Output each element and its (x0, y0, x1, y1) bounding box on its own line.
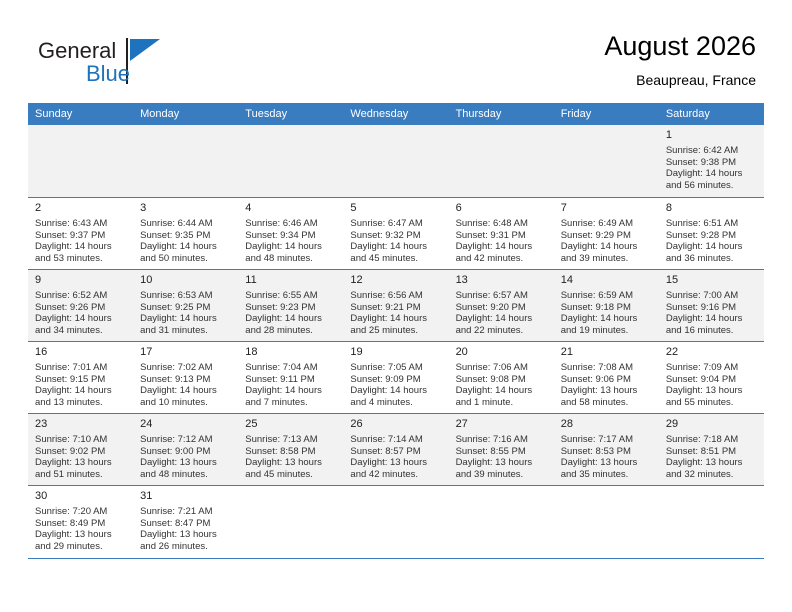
day-cell-content: 1Sunrise: 6:42 AMSunset: 9:38 PMDaylight… (659, 125, 764, 191)
day-cell-content: 23Sunrise: 7:10 AMSunset: 9:02 PMDayligh… (28, 414, 133, 480)
day-cell-19[interactable]: 19Sunrise: 7:05 AMSunset: 9:09 PMDayligh… (343, 342, 448, 414)
day-number: 7 (561, 202, 652, 215)
daylight-text-line2: and 28 minutes. (245, 325, 336, 337)
day-cell-12[interactable]: 12Sunrise: 6:56 AMSunset: 9:21 PMDayligh… (343, 270, 448, 342)
daylight-text-line2: and 45 minutes. (245, 469, 336, 481)
day-info: Sunrise: 6:48 AMSunset: 9:31 PMDaylight:… (456, 218, 547, 264)
day-info: Sunrise: 6:55 AMSunset: 9:23 PMDaylight:… (245, 290, 336, 336)
calendar-week-row: 2Sunrise: 6:43 AMSunset: 9:37 PMDaylight… (28, 198, 764, 270)
daylight-text-line2: and 45 minutes. (350, 253, 441, 265)
day-cell-16[interactable]: 16Sunrise: 7:01 AMSunset: 9:15 PMDayligh… (28, 342, 133, 414)
daylight-text-line1: Daylight: 14 hours (456, 313, 547, 325)
daylight-text-line2: and 58 minutes. (561, 397, 652, 409)
sunrise-text: Sunrise: 7:18 AM (666, 434, 757, 446)
day-cell-empty (133, 125, 238, 198)
day-cell-content: 14Sunrise: 6:59 AMSunset: 9:18 PMDayligh… (554, 270, 659, 336)
day-cell-content: 17Sunrise: 7:02 AMSunset: 9:13 PMDayligh… (133, 342, 238, 408)
daylight-text-line2: and 34 minutes. (35, 325, 126, 337)
day-cell-content: 9Sunrise: 6:52 AMSunset: 9:26 PMDaylight… (28, 270, 133, 336)
sunset-text: Sunset: 9:26 PM (35, 302, 126, 314)
day-number: 19 (350, 346, 441, 359)
day-cell-empty (554, 125, 659, 198)
day-cell-content: 28Sunrise: 7:17 AMSunset: 8:53 PMDayligh… (554, 414, 659, 480)
day-number: 10 (140, 274, 231, 287)
calendar-page: General Blue August 2026 Beaupreau, Fran… (0, 0, 792, 612)
day-cell-content: 10Sunrise: 6:53 AMSunset: 9:25 PMDayligh… (133, 270, 238, 336)
day-info: Sunrise: 6:52 AMSunset: 9:26 PMDaylight:… (35, 290, 126, 336)
daylight-text-line1: Daylight: 14 hours (456, 241, 547, 253)
daylight-text-line1: Daylight: 14 hours (666, 313, 757, 325)
daylight-text-line1: Daylight: 14 hours (350, 385, 441, 397)
sunrise-text: Sunrise: 6:53 AM (140, 290, 231, 302)
sunrise-text: Sunrise: 6:46 AM (245, 218, 336, 230)
sunrise-sunset-calendar: Sunday Monday Tuesday Wednesday Thursday… (28, 103, 764, 559)
day-cell-content: 24Sunrise: 7:12 AMSunset: 9:00 PMDayligh… (133, 414, 238, 480)
sunset-text: Sunset: 9:25 PM (140, 302, 231, 314)
empty-day-placeholder (554, 125, 659, 197)
calendar-week-row: 1Sunrise: 6:42 AMSunset: 9:38 PMDaylight… (28, 125, 764, 198)
sunset-text: Sunset: 9:13 PM (140, 374, 231, 386)
day-cell-content: 26Sunrise: 7:14 AMSunset: 8:57 PMDayligh… (343, 414, 448, 480)
empty-day-placeholder (28, 125, 133, 197)
day-cell-17[interactable]: 17Sunrise: 7:02 AMSunset: 9:13 PMDayligh… (133, 342, 238, 414)
day-cell-13[interactable]: 13Sunrise: 6:57 AMSunset: 9:20 PMDayligh… (449, 270, 554, 342)
weekday-header-row: Sunday Monday Tuesday Wednesday Thursday… (28, 103, 764, 125)
sunset-text: Sunset: 9:09 PM (350, 374, 441, 386)
day-info: Sunrise: 6:59 AMSunset: 9:18 PMDaylight:… (561, 290, 652, 336)
day-cell-20[interactable]: 20Sunrise: 7:06 AMSunset: 9:08 PMDayligh… (449, 342, 554, 414)
daylight-text-line1: Daylight: 14 hours (456, 385, 547, 397)
daylight-text-line1: Daylight: 13 hours (456, 457, 547, 469)
sunset-text: Sunset: 9:16 PM (666, 302, 757, 314)
day-number: 9 (35, 274, 126, 287)
day-cell-21[interactable]: 21Sunrise: 7:08 AMSunset: 9:06 PMDayligh… (554, 342, 659, 414)
day-cell-content: 7Sunrise: 6:49 AMSunset: 9:29 PMDaylight… (554, 198, 659, 264)
day-number: 24 (140, 418, 231, 431)
day-cell-empty (659, 486, 764, 559)
empty-day-placeholder (343, 486, 448, 558)
day-cell-6[interactable]: 6Sunrise: 6:48 AMSunset: 9:31 PMDaylight… (449, 198, 554, 270)
daylight-text-line2: and 53 minutes. (35, 253, 126, 265)
sunrise-text: Sunrise: 6:56 AM (350, 290, 441, 302)
daylight-text-line2: and 32 minutes. (666, 469, 757, 481)
sunrise-text: Sunrise: 7:01 AM (35, 362, 126, 374)
empty-day-placeholder (449, 125, 554, 197)
daylight-text-line2: and 22 minutes. (456, 325, 547, 337)
day-info: Sunrise: 6:42 AMSunset: 9:38 PMDaylight:… (666, 145, 757, 191)
day-number: 26 (350, 418, 441, 431)
day-cell-26[interactable]: 26Sunrise: 7:14 AMSunset: 8:57 PMDayligh… (343, 414, 448, 486)
day-cell-29[interactable]: 29Sunrise: 7:18 AMSunset: 8:51 PMDayligh… (659, 414, 764, 486)
day-info: Sunrise: 7:16 AMSunset: 8:55 PMDaylight:… (456, 434, 547, 480)
daylight-text-line1: Daylight: 13 hours (561, 457, 652, 469)
logo-word-blue: Blue (86, 61, 130, 87)
daylight-text-line1: Daylight: 13 hours (666, 457, 757, 469)
daylight-text-line2: and 51 minutes. (35, 469, 126, 481)
day-number: 1 (666, 129, 757, 142)
day-cell-10[interactable]: 10Sunrise: 6:53 AMSunset: 9:25 PMDayligh… (133, 270, 238, 342)
daylight-text-line1: Daylight: 13 hours (245, 457, 336, 469)
day-cell-content: 31Sunrise: 7:21 AMSunset: 8:47 PMDayligh… (133, 486, 238, 552)
daylight-text-line1: Daylight: 13 hours (350, 457, 441, 469)
weekday-header-sunday: Sunday (28, 103, 133, 125)
day-number: 21 (561, 346, 652, 359)
day-info: Sunrise: 6:46 AMSunset: 9:34 PMDaylight:… (245, 218, 336, 264)
daylight-text-line1: Daylight: 14 hours (35, 385, 126, 397)
empty-day-placeholder (238, 125, 343, 197)
daylight-text-line1: Daylight: 14 hours (245, 385, 336, 397)
day-info: Sunrise: 7:06 AMSunset: 9:08 PMDaylight:… (456, 362, 547, 408)
day-cell-content: 2Sunrise: 6:43 AMSunset: 9:37 PMDaylight… (28, 198, 133, 264)
day-cell-content: 15Sunrise: 7:00 AMSunset: 9:16 PMDayligh… (659, 270, 764, 336)
sunrise-text: Sunrise: 7:20 AM (35, 506, 126, 518)
sunrise-text: Sunrise: 7:09 AM (666, 362, 757, 374)
sunset-text: Sunset: 9:15 PM (35, 374, 126, 386)
day-number: 11 (245, 274, 336, 287)
empty-day-placeholder (449, 486, 554, 558)
day-cell-content: 25Sunrise: 7:13 AMSunset: 8:58 PMDayligh… (238, 414, 343, 480)
sunset-text: Sunset: 8:51 PM (666, 446, 757, 458)
daylight-text-line1: Daylight: 14 hours (561, 313, 652, 325)
sunset-text: Sunset: 8:58 PM (245, 446, 336, 458)
day-cell-empty (238, 486, 343, 559)
daylight-text-line2: and 4 minutes. (350, 397, 441, 409)
daylight-text-line1: Daylight: 13 hours (35, 457, 126, 469)
daylight-text-line2: and 1 minute. (456, 397, 547, 409)
sunrise-text: Sunrise: 7:17 AM (561, 434, 652, 446)
day-info: Sunrise: 7:04 AMSunset: 9:11 PMDaylight:… (245, 362, 336, 408)
calendar-week-row: 16Sunrise: 7:01 AMSunset: 9:15 PMDayligh… (28, 342, 764, 414)
day-cell-1[interactable]: 1Sunrise: 6:42 AMSunset: 9:38 PMDaylight… (659, 125, 764, 198)
sunset-text: Sunset: 8:49 PM (35, 518, 126, 530)
day-info: Sunrise: 7:21 AMSunset: 8:47 PMDaylight:… (140, 506, 231, 552)
sunset-text: Sunset: 8:57 PM (350, 446, 441, 458)
empty-day-placeholder (554, 486, 659, 558)
daylight-text-line2: and 48 minutes. (245, 253, 336, 265)
day-info: Sunrise: 7:05 AMSunset: 9:09 PMDaylight:… (350, 362, 441, 408)
day-number: 31 (140, 490, 231, 503)
day-number: 14 (561, 274, 652, 287)
day-number: 12 (350, 274, 441, 287)
sunset-text: Sunset: 8:55 PM (456, 446, 547, 458)
day-info: Sunrise: 7:09 AMSunset: 9:04 PMDaylight:… (666, 362, 757, 408)
sunrise-text: Sunrise: 7:08 AM (561, 362, 652, 374)
sunrise-text: Sunrise: 7:04 AM (245, 362, 336, 374)
empty-day-placeholder (659, 486, 764, 558)
day-number: 15 (666, 274, 757, 287)
day-number: 5 (350, 202, 441, 215)
day-cell-content: 18Sunrise: 7:04 AMSunset: 9:11 PMDayligh… (238, 342, 343, 408)
daylight-text-line2: and 36 minutes. (666, 253, 757, 265)
weekday-header-tuesday: Tuesday (238, 103, 343, 125)
day-number: 8 (666, 202, 757, 215)
daylight-text-line1: Daylight: 14 hours (35, 313, 126, 325)
day-cell-9[interactable]: 9Sunrise: 6:52 AMSunset: 9:26 PMDaylight… (28, 270, 133, 342)
sunrise-text: Sunrise: 7:05 AM (350, 362, 441, 374)
day-cell-18[interactable]: 18Sunrise: 7:04 AMSunset: 9:11 PMDayligh… (238, 342, 343, 414)
sunrise-text: Sunrise: 7:00 AM (666, 290, 757, 302)
day-cell-content: 21Sunrise: 7:08 AMSunset: 9:06 PMDayligh… (554, 342, 659, 408)
weekday-header-saturday: Saturday (659, 103, 764, 125)
sunset-text: Sunset: 9:35 PM (140, 230, 231, 242)
sunrise-text: Sunrise: 6:59 AM (561, 290, 652, 302)
day-cell-content: 4Sunrise: 6:46 AMSunset: 9:34 PMDaylight… (238, 198, 343, 264)
sunrise-text: Sunrise: 7:10 AM (35, 434, 126, 446)
day-info: Sunrise: 7:20 AMSunset: 8:49 PMDaylight:… (35, 506, 126, 552)
day-cell-content: 19Sunrise: 7:05 AMSunset: 9:09 PMDayligh… (343, 342, 448, 408)
daylight-text-line2: and 56 minutes. (666, 180, 757, 192)
sunset-text: Sunset: 9:37 PM (35, 230, 126, 242)
daylight-text-line2: and 7 minutes. (245, 397, 336, 409)
sunset-text: Sunset: 8:47 PM (140, 518, 231, 530)
day-cell-content: 8Sunrise: 6:51 AMSunset: 9:28 PMDaylight… (659, 198, 764, 264)
daylight-text-line2: and 13 minutes. (35, 397, 126, 409)
daylight-text-line2: and 10 minutes. (140, 397, 231, 409)
day-info: Sunrise: 7:10 AMSunset: 9:02 PMDaylight:… (35, 434, 126, 480)
weekday-header-thursday: Thursday (449, 103, 554, 125)
day-number: 17 (140, 346, 231, 359)
sunrise-text: Sunrise: 6:51 AM (666, 218, 757, 230)
day-number: 28 (561, 418, 652, 431)
day-cell-empty (343, 125, 448, 198)
daylight-text-line1: Daylight: 13 hours (666, 385, 757, 397)
sunset-text: Sunset: 9:23 PM (245, 302, 336, 314)
sunrise-text: Sunrise: 7:21 AM (140, 506, 231, 518)
day-info: Sunrise: 6:51 AMSunset: 9:28 PMDaylight:… (666, 218, 757, 264)
day-cell-content: 30Sunrise: 7:20 AMSunset: 8:49 PMDayligh… (28, 486, 133, 552)
location-subtitle: Beaupreau, France (604, 71, 756, 89)
day-cell-content: 3Sunrise: 6:44 AMSunset: 9:35 PMDaylight… (133, 198, 238, 264)
daylight-text-line2: and 29 minutes. (35, 541, 126, 553)
daylight-text-line2: and 39 minutes. (561, 253, 652, 265)
sunrise-text: Sunrise: 7:16 AM (456, 434, 547, 446)
day-cell-8[interactable]: 8Sunrise: 6:51 AMSunset: 9:28 PMDaylight… (659, 198, 764, 270)
day-info: Sunrise: 7:12 AMSunset: 9:00 PMDaylight:… (140, 434, 231, 480)
day-number: 3 (140, 202, 231, 215)
daylight-text-line2: and 42 minutes. (350, 469, 441, 481)
sunrise-text: Sunrise: 7:14 AM (350, 434, 441, 446)
day-number: 6 (456, 202, 547, 215)
empty-day-placeholder (133, 125, 238, 197)
day-cell-27[interactable]: 27Sunrise: 7:16 AMSunset: 8:55 PMDayligh… (449, 414, 554, 486)
daylight-text-line2: and 19 minutes. (561, 325, 652, 337)
day-cell-31[interactable]: 31Sunrise: 7:21 AMSunset: 8:47 PMDayligh… (133, 486, 238, 559)
day-number: 20 (456, 346, 547, 359)
daylight-text-line2: and 39 minutes. (456, 469, 547, 481)
day-cell-empty (449, 486, 554, 559)
day-number: 30 (35, 490, 126, 503)
empty-day-placeholder (343, 125, 448, 197)
daylight-text-line2: and 26 minutes. (140, 541, 231, 553)
day-cell-7[interactable]: 7Sunrise: 6:49 AMSunset: 9:29 PMDaylight… (554, 198, 659, 270)
day-number: 23 (35, 418, 126, 431)
day-cell-14[interactable]: 14Sunrise: 6:59 AMSunset: 9:18 PMDayligh… (554, 270, 659, 342)
calendar-week-row: 9Sunrise: 6:52 AMSunset: 9:26 PMDaylight… (28, 270, 764, 342)
day-cell-content: 12Sunrise: 6:56 AMSunset: 9:21 PMDayligh… (343, 270, 448, 336)
sunset-text: Sunset: 9:32 PM (350, 230, 441, 242)
day-cell-5[interactable]: 5Sunrise: 6:47 AMSunset: 9:32 PMDaylight… (343, 198, 448, 270)
day-cell-content: 22Sunrise: 7:09 AMSunset: 9:04 PMDayligh… (659, 342, 764, 408)
daylight-text-line2: and 35 minutes. (561, 469, 652, 481)
day-info: Sunrise: 6:43 AMSunset: 9:37 PMDaylight:… (35, 218, 126, 264)
day-cell-25[interactable]: 25Sunrise: 7:13 AMSunset: 8:58 PMDayligh… (238, 414, 343, 486)
sunrise-text: Sunrise: 7:02 AM (140, 362, 231, 374)
day-number: 29 (666, 418, 757, 431)
daylight-text-line1: Daylight: 13 hours (561, 385, 652, 397)
sunrise-text: Sunrise: 6:42 AM (666, 145, 757, 157)
day-info: Sunrise: 7:02 AMSunset: 9:13 PMDaylight:… (140, 362, 231, 408)
sunset-text: Sunset: 9:31 PM (456, 230, 547, 242)
daylight-text-line1: Daylight: 13 hours (140, 529, 231, 541)
title-block: August 2026 Beaupreau, France (604, 30, 756, 89)
day-cell-empty (238, 125, 343, 198)
daylight-text-line1: Daylight: 14 hours (35, 241, 126, 253)
day-info: Sunrise: 7:00 AMSunset: 9:16 PMDaylight:… (666, 290, 757, 336)
daylight-text-line1: Daylight: 14 hours (140, 313, 231, 325)
page-title: August 2026 (604, 30, 756, 62)
day-info: Sunrise: 6:57 AMSunset: 9:20 PMDaylight:… (456, 290, 547, 336)
day-cell-24[interactable]: 24Sunrise: 7:12 AMSunset: 9:00 PMDayligh… (133, 414, 238, 486)
day-cell-empty (554, 486, 659, 559)
sunset-text: Sunset: 9:00 PM (140, 446, 231, 458)
sunset-text: Sunset: 9:38 PM (666, 157, 757, 169)
day-info: Sunrise: 6:53 AMSunset: 9:25 PMDaylight:… (140, 290, 231, 336)
calendar-week-row: 23Sunrise: 7:10 AMSunset: 9:02 PMDayligh… (28, 414, 764, 486)
daylight-text-line1: Daylight: 14 hours (350, 313, 441, 325)
sunset-text: Sunset: 9:18 PM (561, 302, 652, 314)
daylight-text-line1: Daylight: 13 hours (35, 529, 126, 541)
day-cell-content: 13Sunrise: 6:57 AMSunset: 9:20 PMDayligh… (449, 270, 554, 336)
day-number: 25 (245, 418, 336, 431)
daylight-text-line1: Daylight: 14 hours (140, 385, 231, 397)
daylight-text-line1: Daylight: 14 hours (245, 241, 336, 253)
day-cell-content: 16Sunrise: 7:01 AMSunset: 9:15 PMDayligh… (28, 342, 133, 408)
day-info: Sunrise: 6:44 AMSunset: 9:35 PMDaylight:… (140, 218, 231, 264)
sunset-text: Sunset: 9:11 PM (245, 374, 336, 386)
calendar-body: 1Sunrise: 6:42 AMSunset: 9:38 PMDaylight… (28, 125, 764, 559)
day-cell-4[interactable]: 4Sunrise: 6:46 AMSunset: 9:34 PMDaylight… (238, 198, 343, 270)
logo-flag-icon (130, 39, 160, 61)
day-info: Sunrise: 7:14 AMSunset: 8:57 PMDaylight:… (350, 434, 441, 480)
day-number: 4 (245, 202, 336, 215)
sunrise-text: Sunrise: 6:48 AM (456, 218, 547, 230)
day-number: 18 (245, 346, 336, 359)
page-header: General Blue August 2026 Beaupreau, Fran… (0, 0, 792, 100)
day-number: 2 (35, 202, 126, 215)
day-info: Sunrise: 7:18 AMSunset: 8:51 PMDaylight:… (666, 434, 757, 480)
daylight-text-line2: and 55 minutes. (666, 397, 757, 409)
sunset-text: Sunset: 9:20 PM (456, 302, 547, 314)
daylight-text-line1: Daylight: 14 hours (666, 241, 757, 253)
day-cell-empty (28, 125, 133, 198)
sunset-text: Sunset: 9:06 PM (561, 374, 652, 386)
day-cell-content: 29Sunrise: 7:18 AMSunset: 8:51 PMDayligh… (659, 414, 764, 480)
day-number: 16 (35, 346, 126, 359)
daylight-text-line2: and 42 minutes. (456, 253, 547, 265)
daylight-text-line2: and 25 minutes. (350, 325, 441, 337)
daylight-text-line2: and 48 minutes. (140, 469, 231, 481)
day-cell-content: 11Sunrise: 6:55 AMSunset: 9:23 PMDayligh… (238, 270, 343, 336)
sunrise-text: Sunrise: 6:52 AM (35, 290, 126, 302)
daylight-text-line1: Daylight: 13 hours (140, 457, 231, 469)
sunset-text: Sunset: 9:02 PM (35, 446, 126, 458)
sunrise-text: Sunrise: 6:43 AM (35, 218, 126, 230)
day-number: 13 (456, 274, 547, 287)
calendar-week-row: 30Sunrise: 7:20 AMSunset: 8:49 PMDayligh… (28, 486, 764, 559)
day-info: Sunrise: 6:49 AMSunset: 9:29 PMDaylight:… (561, 218, 652, 264)
day-cell-11[interactable]: 11Sunrise: 6:55 AMSunset: 9:23 PMDayligh… (238, 270, 343, 342)
sunset-text: Sunset: 9:29 PM (561, 230, 652, 242)
day-cell-3[interactable]: 3Sunrise: 6:44 AMSunset: 9:35 PMDaylight… (133, 198, 238, 270)
sunrise-text: Sunrise: 6:47 AM (350, 218, 441, 230)
daylight-text-line1: Daylight: 14 hours (561, 241, 652, 253)
daylight-text-line2: and 31 minutes. (140, 325, 231, 337)
day-cell-15[interactable]: 15Sunrise: 7:00 AMSunset: 9:16 PMDayligh… (659, 270, 764, 342)
sunrise-text: Sunrise: 7:12 AM (140, 434, 231, 446)
day-cell-22[interactable]: 22Sunrise: 7:09 AMSunset: 9:04 PMDayligh… (659, 342, 764, 414)
day-info: Sunrise: 7:17 AMSunset: 8:53 PMDaylight:… (561, 434, 652, 480)
day-cell-empty (449, 125, 554, 198)
sunrise-text: Sunrise: 6:49 AM (561, 218, 652, 230)
weekday-header-friday: Friday (554, 103, 659, 125)
day-info: Sunrise: 6:47 AMSunset: 9:32 PMDaylight:… (350, 218, 441, 264)
day-cell-content: 6Sunrise: 6:48 AMSunset: 9:31 PMDaylight… (449, 198, 554, 264)
sunset-text: Sunset: 9:08 PM (456, 374, 547, 386)
sunset-text: Sunset: 9:04 PM (666, 374, 757, 386)
day-cell-28[interactable]: 28Sunrise: 7:17 AMSunset: 8:53 PMDayligh… (554, 414, 659, 486)
sunset-text: Sunset: 9:28 PM (666, 230, 757, 242)
sunrise-text: Sunrise: 6:57 AM (456, 290, 547, 302)
sunrise-text: Sunrise: 6:55 AM (245, 290, 336, 302)
empty-day-placeholder (238, 486, 343, 558)
sunset-text: Sunset: 8:53 PM (561, 446, 652, 458)
day-cell-content: 20Sunrise: 7:06 AMSunset: 9:08 PMDayligh… (449, 342, 554, 408)
day-info: Sunrise: 6:56 AMSunset: 9:21 PMDaylight:… (350, 290, 441, 336)
daylight-text-line1: Daylight: 14 hours (245, 313, 336, 325)
sunrise-text: Sunrise: 6:44 AM (140, 218, 231, 230)
daylight-text-line2: and 16 minutes. (666, 325, 757, 337)
day-info: Sunrise: 7:01 AMSunset: 9:15 PMDaylight:… (35, 362, 126, 408)
daylight-text-line1: Daylight: 14 hours (140, 241, 231, 253)
day-info: Sunrise: 7:08 AMSunset: 9:06 PMDaylight:… (561, 362, 652, 408)
day-number: 22 (666, 346, 757, 359)
weekday-header-monday: Monday (133, 103, 238, 125)
sunrise-text: Sunrise: 7:06 AM (456, 362, 547, 374)
general-blue-logo[interactable]: General Blue (38, 38, 288, 90)
day-cell-empty (343, 486, 448, 559)
day-number: 27 (456, 418, 547, 431)
day-cell-content: 5Sunrise: 6:47 AMSunset: 9:32 PMDaylight… (343, 198, 448, 264)
weekday-header-wednesday: Wednesday (343, 103, 448, 125)
day-cell-content: 27Sunrise: 7:16 AMSunset: 8:55 PMDayligh… (449, 414, 554, 480)
day-cell-2[interactable]: 2Sunrise: 6:43 AMSunset: 9:37 PMDaylight… (28, 198, 133, 270)
sunrise-text: Sunrise: 7:13 AM (245, 434, 336, 446)
sunset-text: Sunset: 9:34 PM (245, 230, 336, 242)
day-cell-30[interactable]: 30Sunrise: 7:20 AMSunset: 8:49 PMDayligh… (28, 486, 133, 559)
daylight-text-line1: Daylight: 14 hours (350, 241, 441, 253)
daylight-text-line1: Daylight: 14 hours (666, 168, 757, 180)
daylight-text-line2: and 50 minutes. (140, 253, 231, 265)
day-cell-23[interactable]: 23Sunrise: 7:10 AMSunset: 9:02 PMDayligh… (28, 414, 133, 486)
sunset-text: Sunset: 9:21 PM (350, 302, 441, 314)
day-info: Sunrise: 7:13 AMSunset: 8:58 PMDaylight:… (245, 434, 336, 480)
